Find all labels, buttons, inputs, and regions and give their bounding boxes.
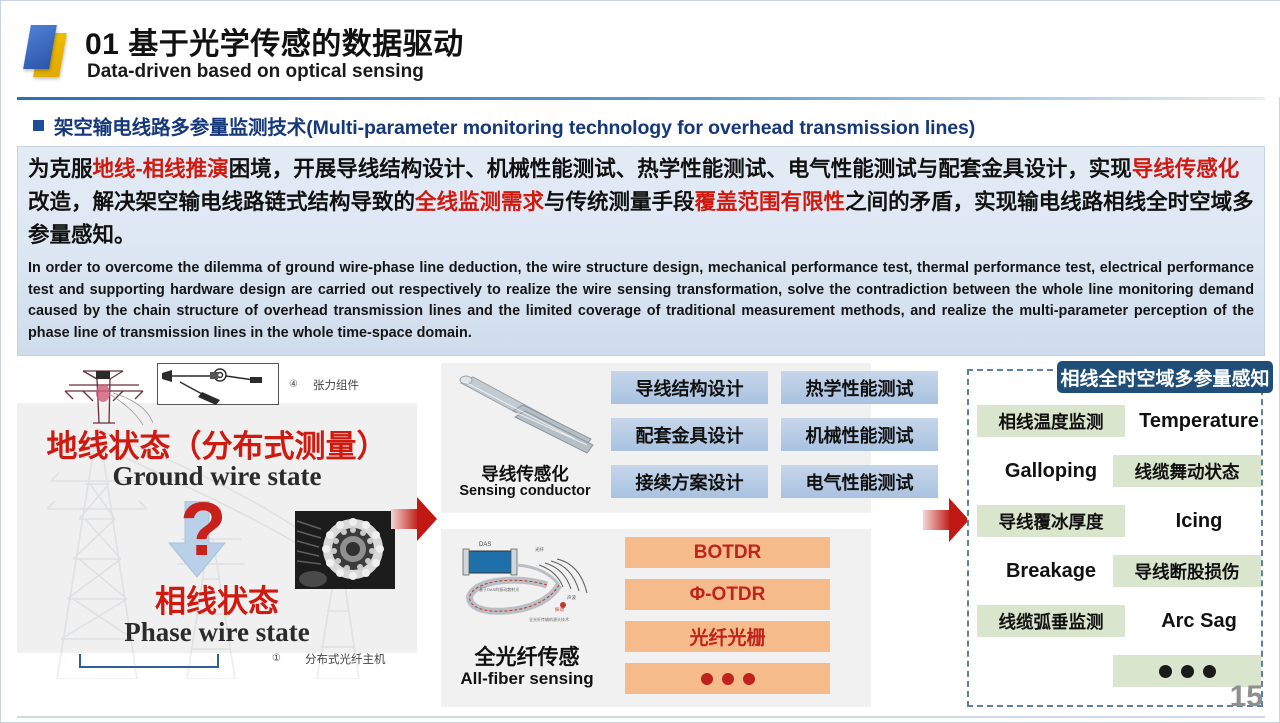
page-title-cn: 01 基于光学传感的数据驱动 [85, 19, 464, 63]
ellipsis-dots-icon [1159, 665, 1216, 678]
label-icing-en: Icing [1125, 505, 1273, 537]
description-block: 为克服地线-相线推演困境，开展导线结构设计、机械性能测试、热学性能测试、电气性能… [17, 146, 1265, 356]
das-fiber-diagram: DAS 振动 光纤 声波 基于DAS的振动散射光 全光纤传输的源头技术 [455, 537, 605, 637]
all-fiber-caption-cn: 全光纤传感 [447, 641, 607, 671]
measurement-bracket [79, 654, 219, 668]
label-temperature-en: Temperature [1125, 405, 1273, 437]
chip-fiber-grating[interactable]: 光纤光栅 [625, 621, 830, 652]
chip-icing-thickness-cn[interactable]: 导线覆冰厚度 [977, 505, 1125, 537]
header-divider [17, 97, 1265, 100]
sensing-conductor-panel: 导线传感化 Sensing conductor 导线结构设计 热学性能测试 配套… [441, 363, 871, 513]
host-label: 分布式光纤主机 [305, 651, 386, 667]
section-subtitle: 架空输电线路多参量监测技术(Multi-parameter monitoring… [17, 104, 1265, 146]
svg-text:声波: 声波 [567, 594, 576, 601]
chip-broken-strand-cn[interactable]: 导线断股损伤 [1113, 555, 1261, 587]
label-galloping-en: Galloping [977, 455, 1125, 487]
tension-marker-number: ④ [289, 379, 298, 390]
description-en: In order to overcome the dilemma of grou… [28, 258, 1254, 344]
label-arc-sag-en: Arc Sag [1125, 605, 1273, 637]
chip-splicing-scheme-design[interactable]: 接续方案设计 [611, 465, 768, 498]
chip-more-methods[interactable] [625, 663, 830, 694]
tower-photo-icon [53, 365, 153, 425]
page-number: 15 [1230, 680, 1263, 714]
question-mark-icon: ? [180, 492, 226, 568]
left-panel: ④ 张力组件 地线状态（分布式测量） Ground wire state ? [17, 361, 417, 691]
chip-electrical-performance-test[interactable]: 电气性能测试 [781, 465, 938, 498]
page-title-en: Data-driven based on optical sensing [87, 61, 424, 83]
square-bullet-icon [33, 120, 44, 131]
svg-text:DAS: DAS [479, 542, 491, 548]
chip-botdr[interactable]: BOTDR [625, 537, 830, 568]
all-fiber-sensing-panel: DAS 振动 光纤 声波 基于DAS的振动散射光 全光纤传输的源头技术 全光纤传… [441, 529, 871, 707]
chip-galloping-cn[interactable]: 线缆舞动状态 [1113, 455, 1261, 487]
svg-text:光纤: 光纤 [535, 546, 544, 553]
tension-component-photo [157, 363, 279, 405]
svg-text:全光纤传输的源头技术: 全光纤传输的源头技术 [529, 616, 569, 622]
chip-sag-monitoring-cn[interactable]: 线缆弧垂监测 [977, 605, 1125, 637]
chip-phi-otdr[interactable]: Φ-OTDR [625, 579, 830, 610]
ellipsis-dots-icon [701, 673, 755, 685]
chip-thermal-performance-test[interactable]: 热学性能测试 [781, 371, 938, 404]
svg-text:基于DAS的振动散射光: 基于DAS的振动散射光 [479, 586, 519, 592]
chip-temperature-monitoring-cn[interactable]: 相线温度监测 [977, 405, 1125, 437]
chip-conductor-structure-design[interactable]: 导线结构设计 [611, 371, 768, 404]
slide: 01 基于光学传感的数据驱动 Data-driven based on opti… [0, 0, 1280, 723]
ground-wire-state-cn: 地线状态（分布式测量） [31, 421, 403, 466]
diagram-area: ④ 张力组件 地线状态（分布式测量） Ground wire state ? [17, 361, 1265, 713]
slide-header: 01 基于光学传感的数据驱动 Data-driven based on opti… [1, 1, 1280, 97]
brand-logo-icon [23, 21, 75, 81]
footer-divider [17, 716, 1265, 718]
chip-mechanical-performance-test[interactable]: 机械性能测试 [781, 418, 938, 451]
description-cn: 为克服地线-相线推演困境，开展导线结构设计、机械性能测试、热学性能测试、电气性能… [28, 153, 1254, 252]
section-subtitle-text: 架空输电线路多参量监测技术(Multi-parameter monitoring… [54, 111, 975, 140]
label-breakage-en: Breakage [977, 555, 1125, 587]
perception-panel-title: 相线全时空域多参量感知 [1057, 361, 1273, 393]
tension-label: 张力组件 [313, 377, 359, 393]
sensing-conductor-caption-en: Sensing conductor [441, 483, 609, 499]
flow-arrow-right-2-icon [923, 497, 969, 543]
flow-arrow-right-1-icon [391, 496, 437, 542]
chip-hardware-design[interactable]: 配套金具设计 [611, 418, 768, 451]
host-marker-number: ① [272, 653, 281, 664]
phase-wire-state-cn: 相线状态 [31, 576, 403, 621]
all-fiber-caption-en: All-fiber sensing [443, 669, 611, 689]
sensing-conductor-photo [453, 373, 598, 459]
phase-wire-state-en: Phase wire state [31, 617, 403, 648]
svg-text:振动: 振动 [555, 606, 564, 613]
